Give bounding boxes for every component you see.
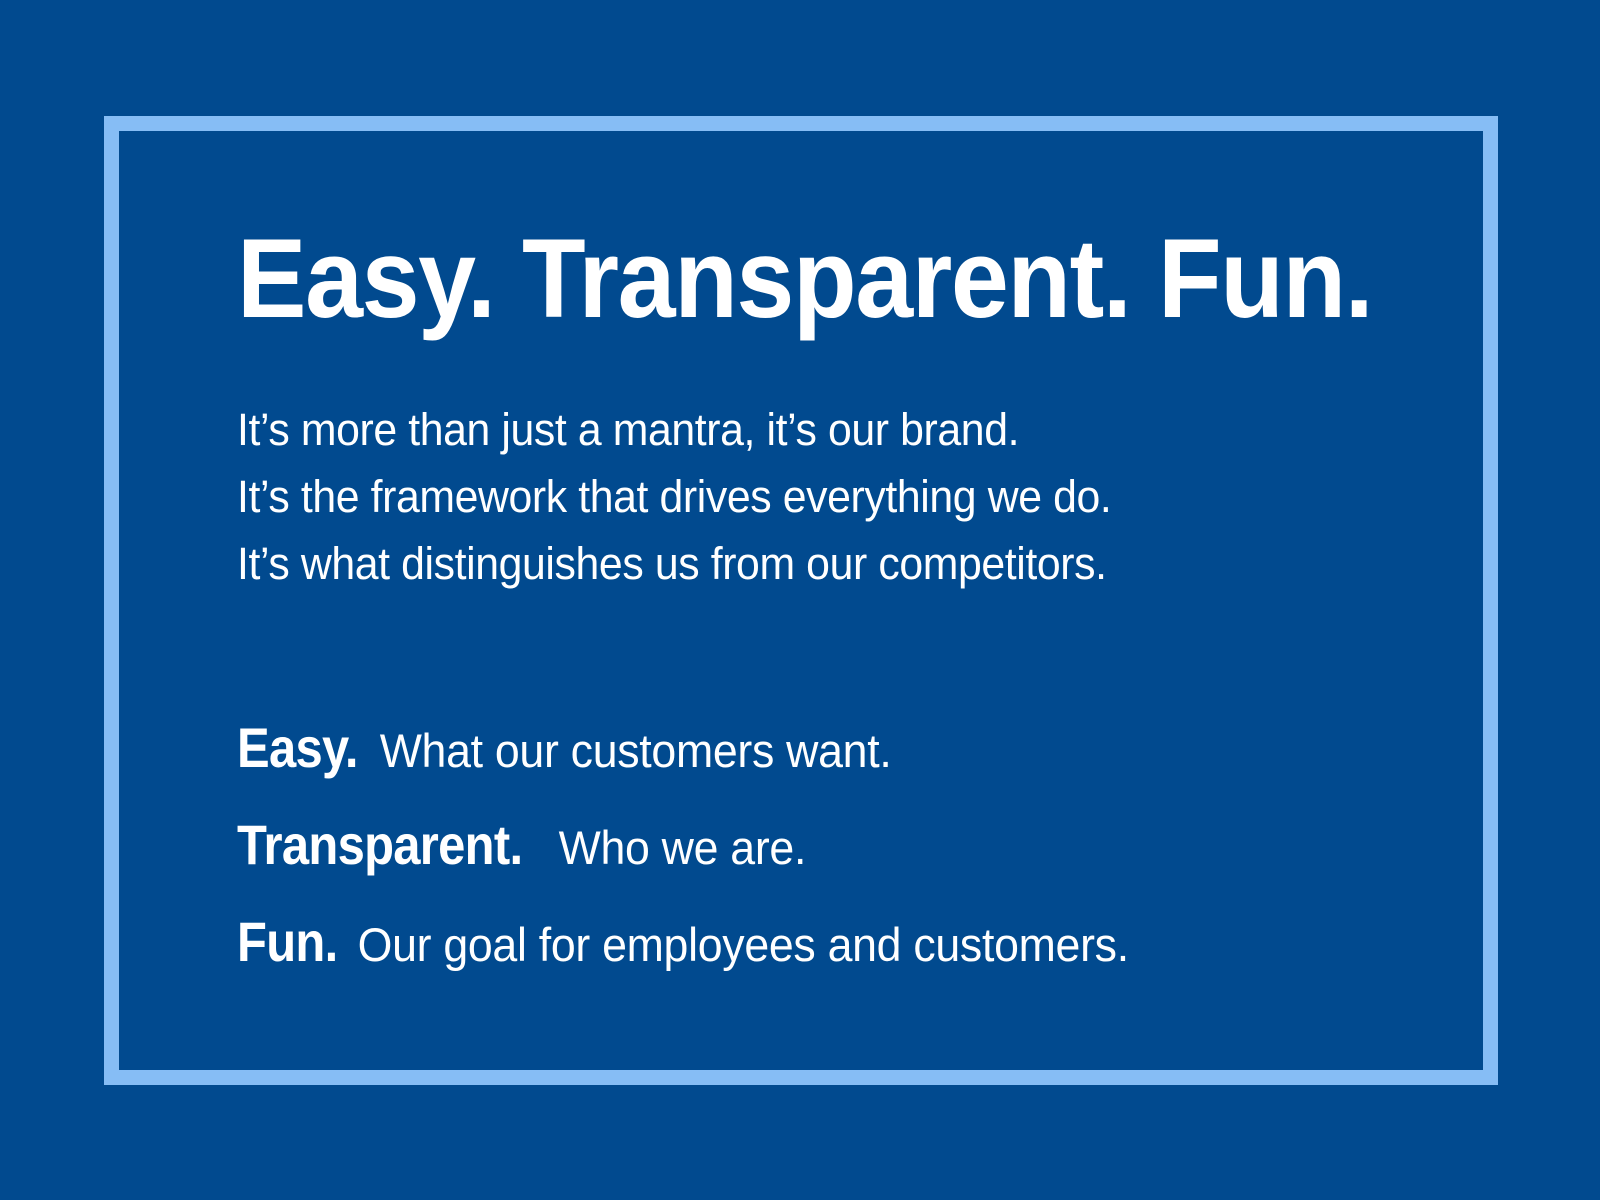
definition-term-easy: Easy. [237,707,358,789]
intro-line-1: It’s more than just a mantra, it’s our b… [237,396,1358,463]
intro-line-2: It’s the framework that drives everythin… [237,463,1358,530]
definition-term-transparent: Transparent. [237,804,522,886]
definition-item-transparent: Transparent.Who we are. [237,804,1358,901]
page-title: Easy. Transparent. Fun. [237,222,1334,336]
definition-item-easy: Easy.What our customers want. [237,707,1358,804]
definitions-list: Easy.What our customers want. Transparen… [237,597,1417,998]
slide-content: Easy. Transparent. Fun. It’s more than j… [237,222,1417,998]
slide-canvas: Easy. Transparent. Fun. It’s more than j… [0,0,1600,1200]
definition-item-fun: Fun.Our goal for employees and customers… [237,901,1358,998]
definition-description-fun: Our goal for employees and customers. [358,918,1129,971]
intro-paragraph: It’s more than just a mantra, it’s our b… [237,336,1358,597]
intro-line-3: It’s what distinguishes us from our comp… [237,530,1358,597]
definition-term-fun: Fun. [237,901,337,983]
definition-description-easy: What our customers want. [380,724,892,777]
definition-description-transparent: Who we are. [559,821,807,874]
